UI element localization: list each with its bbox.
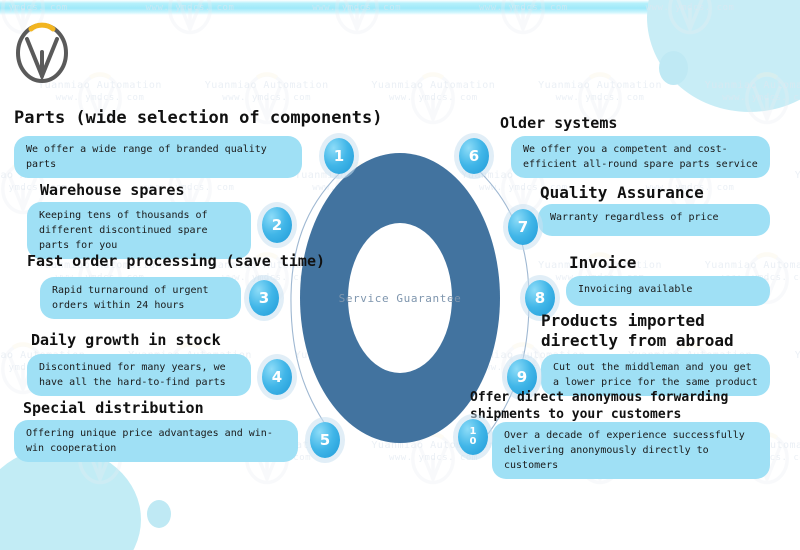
watermark-logo-icon xyxy=(0,248,17,306)
feature-bubble-4: Discontinued for many years, we have all… xyxy=(27,354,251,396)
feature-heading-5: Special distribution xyxy=(23,399,204,418)
watermark-text: Yuanmiao Automationwww. ymdcs. com xyxy=(773,350,800,374)
step-badge-6[interactable]: 6 xyxy=(459,138,489,174)
feature-bubble-1: We offer a wide range of branded quality… xyxy=(14,136,302,178)
feature-bubble-7: Warranty regardless of price xyxy=(538,204,770,236)
feature-bubble-10: Over a decade of experience successfully… xyxy=(492,422,770,479)
feature-bubble-2: Keeping tens of thousands of different d… xyxy=(27,202,251,259)
step-badge-10[interactable]: 10 xyxy=(458,419,488,455)
watermark-text: Yuanmiao Automationwww. ymdcs. com xyxy=(350,80,517,104)
feature-heading-10: Offer direct anonymous forwarding shipme… xyxy=(470,389,740,423)
feature-bubble-6: We offer you a competent and cost-effici… xyxy=(511,136,770,178)
decorative-circle-bottom-left xyxy=(0,447,141,550)
feature-heading-1: Parts (wide selection of components) xyxy=(14,108,382,129)
step-badge-7[interactable]: 7 xyxy=(508,209,538,245)
infographic-canvas: Yuanmiao Automationwww. ymdcs. comYuanmi… xyxy=(0,0,800,550)
feature-heading-3: Fast order processing (save time) xyxy=(27,252,325,271)
decorative-dot-bottom-left xyxy=(147,500,171,528)
feature-bubble-5: Offering unique price advantages and win… xyxy=(14,420,298,462)
feature-heading-4: Daily growth in stock xyxy=(31,331,221,350)
watermark-text: Yuanmiao Automationwww. ymdcs. com xyxy=(517,80,684,104)
feature-heading-8: Invoice xyxy=(569,253,636,273)
feature-heading-9: Products imported directly from abroad xyxy=(541,311,771,351)
step-badge-5[interactable]: 5 xyxy=(310,422,340,458)
center-label: Service Guarantee xyxy=(339,292,462,305)
feature-heading-2: Warehouse spares xyxy=(40,181,185,200)
ring-inner-shape: Service Guarantee xyxy=(348,223,452,373)
feature-bubble-8: Invoicing available xyxy=(566,276,770,306)
decorative-dot-top-right xyxy=(659,51,688,85)
watermark-text: Yuanmiao Automationwww. ymdcs. com xyxy=(773,170,800,194)
step-badge-1[interactable]: 1 xyxy=(324,138,354,174)
feature-bubble-3: Rapid turnaround of urgent orders within… xyxy=(40,277,241,319)
step-badge-4[interactable]: 4 xyxy=(262,359,292,395)
feature-heading-7: Quality Assurance xyxy=(540,183,704,203)
step-badge-digit-bottom: 0 xyxy=(470,437,477,447)
watermark-text: Yuanmiao Automationwww. ymdcs. com xyxy=(183,80,350,104)
feature-heading-6: Older systems xyxy=(500,114,617,133)
step-badge-3[interactable]: 3 xyxy=(249,280,279,316)
step-badge-2[interactable]: 2 xyxy=(262,207,292,243)
watermark-logo-icon xyxy=(773,158,800,216)
company-logo xyxy=(14,18,70,84)
watermark-logo-icon xyxy=(773,338,800,396)
watermark-text: Yuanmiao Automationwww. ymdcs. com xyxy=(0,260,17,284)
